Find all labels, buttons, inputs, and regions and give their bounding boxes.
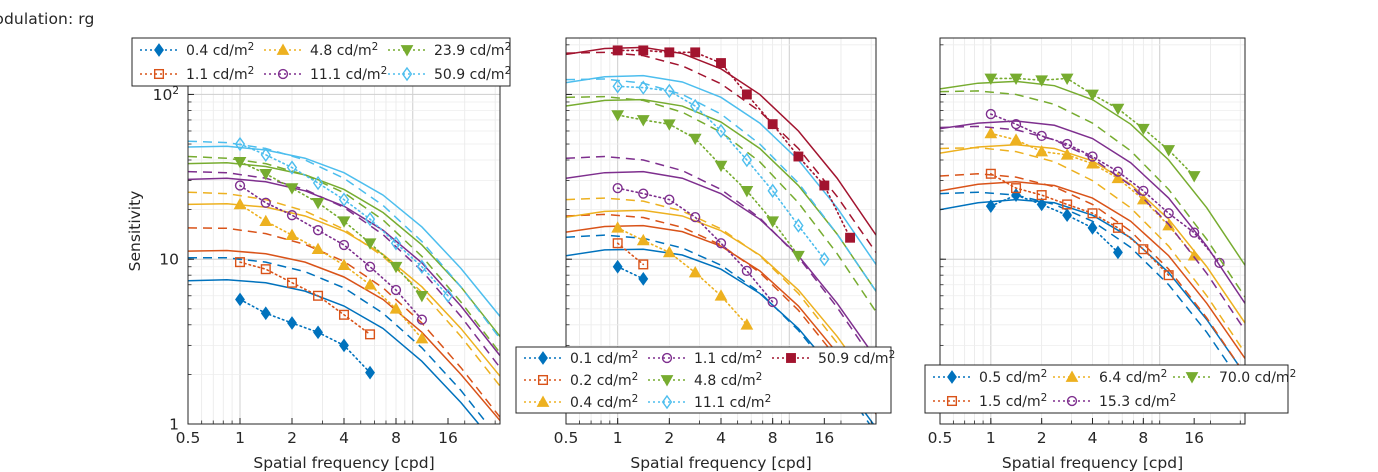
data-marker bbox=[1114, 246, 1123, 258]
legend-label: 70.0 cd/m2 bbox=[1219, 368, 1296, 386]
legend-label: 0.5 cd/m2 bbox=[979, 368, 1047, 386]
data-marker bbox=[1037, 198, 1046, 210]
x-tick-label: 16 bbox=[1184, 429, 1204, 447]
x-tick-label: 2 bbox=[1037, 429, 1047, 447]
data-connector bbox=[991, 195, 1118, 252]
legend-label: 1.5 cd/m2 bbox=[979, 392, 1047, 410]
data-marker bbox=[1063, 209, 1072, 221]
x-tick-label: 8 bbox=[1138, 429, 1148, 447]
legend-3[interactable]: 0.5 cd/m21.5 cd/m26.4 cd/m215.3 cd/m270.… bbox=[925, 365, 1296, 413]
x-tick-label: 4 bbox=[1088, 429, 1098, 447]
data-marker bbox=[985, 128, 996, 138]
data-marker bbox=[1189, 172, 1200, 182]
data-marker bbox=[1164, 209, 1173, 218]
legend-label: 6.4 cd/m2 bbox=[1099, 368, 1167, 386]
plot-3: 0.5124816Spatial frequency [cpd]0.5 cd/m… bbox=[0, 0, 1378, 472]
x-tick-label: 1 bbox=[986, 429, 996, 447]
legend-label: 15.3 cd/m2 bbox=[1099, 392, 1176, 410]
data-marker bbox=[1088, 222, 1097, 234]
data-marker bbox=[1011, 134, 1022, 144]
x-tick-label: 0.5 bbox=[928, 429, 953, 447]
figure-root: Background: E, Modulation: yb0.5124816Sp… bbox=[0, 0, 1378, 472]
x-axis-label: Spatial frequency [cpd] bbox=[1002, 454, 1183, 472]
x-axis: 0.5124816 bbox=[928, 418, 1241, 447]
